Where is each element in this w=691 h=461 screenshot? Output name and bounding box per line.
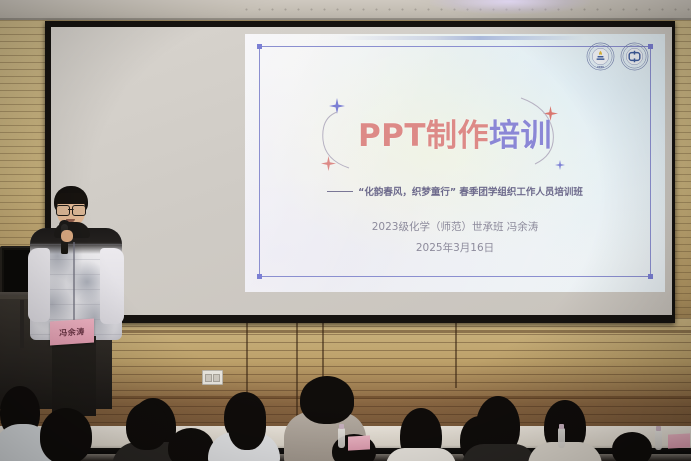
presenter-arm-left — [28, 248, 50, 322]
audience-head — [300, 376, 354, 424]
slide-subtitle-row: “化韵春风，织梦童行” 春季团学组织工作人员培训班 — [245, 184, 665, 198]
mic-stand — [20, 300, 24, 348]
wall-seam-d — [455, 318, 457, 388]
slide-top-glare — [335, 36, 585, 40]
audience-head — [40, 408, 92, 461]
presenter-hand — [61, 230, 73, 242]
slide-date: 2025年3月16日 — [245, 240, 665, 255]
svg-text:●●●●: ●●●● — [597, 66, 604, 69]
presenter-name-card: 冯余涛 — [50, 318, 94, 345]
table-name-card — [668, 433, 690, 448]
power-outlet-icon — [202, 370, 223, 385]
audience-body — [462, 444, 536, 461]
university-emblem-book-icon: ●●●● — [586, 42, 615, 71]
presenter — [28, 186, 124, 416]
slide-title-red: PPT制作 — [358, 118, 489, 154]
lecture-hall-photo: ●●●● — [0, 0, 691, 461]
presenter-glasses-icon — [56, 205, 86, 214]
presenter-legs — [52, 336, 96, 416]
audience-head — [228, 398, 266, 450]
frame-handle-bottom-right — [648, 274, 653, 279]
slide-logos: ●●●● — [586, 42, 649, 71]
subtitle-dash — [327, 191, 353, 193]
audience-body — [386, 448, 456, 461]
frame-handle-bottom-left — [257, 274, 262, 279]
presenter-name-card-text: 冯余涛 — [59, 326, 85, 339]
frame-handle-top-left — [257, 44, 262, 49]
table-name-card — [348, 435, 370, 450]
water-bottle — [655, 430, 662, 450]
slide-subtitle: “化韵春风，织梦童行” 春季团学组织工作人员培训班 — [358, 187, 583, 198]
presenter-fringe — [55, 193, 87, 204]
audience-body — [528, 442, 602, 461]
slide-title: PPT制作培训 — [245, 110, 665, 155]
presenter-arm-right — [100, 248, 124, 324]
slide-author: 2023级化学（师范）世承班 冯余涛 — [245, 219, 665, 234]
water-bottle — [558, 428, 565, 448]
university-emblem-monogram-icon — [620, 42, 649, 71]
glasses-lens-left — [56, 205, 70, 216]
slide-title-purple: 培训 — [489, 118, 552, 154]
ceiling-light-glow — [430, 0, 590, 14]
audience-head — [612, 432, 652, 461]
audience-head — [126, 402, 168, 450]
presentation-slide: ●●●● — [245, 34, 665, 292]
water-bottle — [338, 428, 345, 448]
glasses-lens-right — [72, 205, 86, 216]
